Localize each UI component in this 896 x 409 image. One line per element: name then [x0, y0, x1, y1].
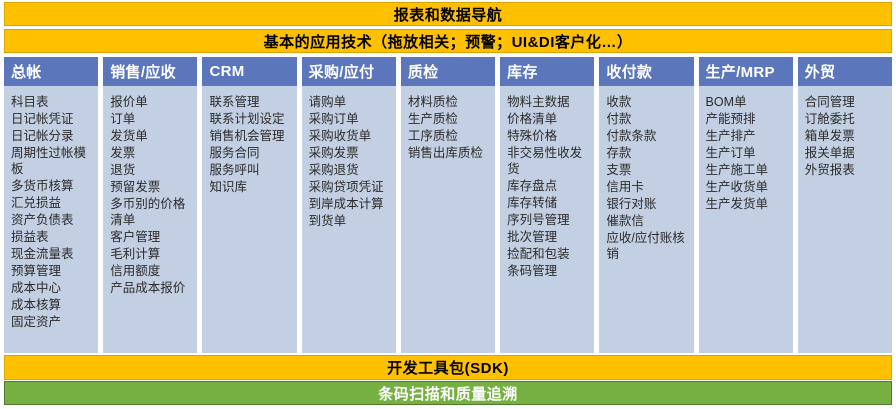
module-item[interactable]: 生产收货单 — [706, 179, 789, 195]
module-item[interactable]: 物料主数据 — [507, 94, 590, 110]
module-item[interactable]: 采购收货单 — [309, 128, 392, 144]
banner-reports-navigation: 报表和数据导航 — [4, 2, 892, 26]
module-column: 销售/应收报价单订单发货单发票退货预留发票多币别的价格清单客户管理毛利计算信用额… — [103, 57, 197, 353]
module-item[interactable]: 联系管理 — [209, 94, 292, 110]
module-item[interactable]: 预留发票 — [110, 179, 193, 195]
module-item[interactable]: 外贸报表 — [805, 162, 888, 178]
module-column: 外贸合同管理订舱委托箱单发票报关单据外贸报表 — [798, 57, 892, 353]
module-item[interactable]: 联系计划设定 — [209, 111, 292, 127]
module-column-header[interactable]: 销售/应收 — [103, 57, 197, 86]
module-item[interactable]: 科目表 — [11, 94, 94, 110]
module-column: 生产/MRPBOM单产能预排生产排产生产订单生产施工单生产收货单生产发货单 — [699, 57, 793, 353]
module-item[interactable]: 信用额度 — [110, 263, 193, 279]
module-item[interactable]: 周期性过帐模板 — [11, 145, 94, 177]
module-item[interactable]: 生产质检 — [408, 111, 491, 127]
module-item[interactable]: 库存转储 — [507, 195, 590, 211]
module-item[interactable]: 到岸成本计算 — [309, 196, 392, 212]
module-column: 总帐科目表日记帐凭证日记帐分录周期性过帐模板多货币核算汇兑损益资产负债表损益表现… — [4, 57, 98, 353]
module-item[interactable]: 报价单 — [110, 94, 193, 110]
module-item[interactable]: 捡配和包装 — [507, 246, 590, 262]
banner-basic-application-technology: 基本的应用技术（拖放相关；预警；UI&DI客户化…） — [4, 29, 892, 53]
module-item[interactable]: 付款 — [606, 111, 689, 127]
module-item[interactable]: 报关单据 — [805, 145, 888, 161]
module-item[interactable]: 生产订单 — [706, 145, 789, 161]
module-item[interactable]: 合同管理 — [805, 94, 888, 110]
module-column-header[interactable]: CRM — [202, 57, 296, 86]
module-item[interactable]: 信用卡 — [606, 179, 689, 195]
module-item[interactable]: 材料质检 — [408, 94, 491, 110]
module-columns: 总帐科目表日记帐凭证日记帐分录周期性过帐模板多货币核算汇兑损益资产负债表损益表现… — [4, 57, 892, 353]
module-item[interactable]: 资产负债表 — [11, 212, 94, 228]
module-item[interactable]: 销售机会管理 — [209, 128, 292, 144]
module-column-header[interactable]: 质检 — [401, 57, 495, 86]
banner-barcode-quality-trace: 条码扫描和质量追溯 — [4, 381, 892, 405]
module-item[interactable]: 特殊价格 — [507, 128, 590, 144]
module-item[interactable]: 发货单 — [110, 128, 193, 144]
module-column-header[interactable]: 库存 — [500, 57, 594, 86]
module-item[interactable]: 工序质检 — [408, 128, 491, 144]
module-item[interactable]: 催款信 — [606, 213, 689, 229]
module-item[interactable]: 请购单 — [309, 94, 392, 110]
module-column: 收付款收款付款付款条款存款支票信用卡银行对账催款信应收/应付账核销 — [599, 57, 693, 353]
module-item[interactable]: 订单 — [110, 111, 193, 127]
module-item-list: 物料主数据价格清单特殊价格非交易性收发货库存盘点库存转储序列号管理批次管理捡配和… — [500, 86, 594, 353]
module-item[interactable]: 销售出库质检 — [408, 145, 491, 161]
erp-module-map: 报表和数据导航 基本的应用技术（拖放相关；预警；UI&DI客户化…） 总帐科目表… — [0, 0, 896, 409]
module-column-header[interactable]: 采购/应付 — [302, 57, 396, 86]
module-item[interactable]: 库存盘点 — [507, 178, 590, 194]
module-item[interactable]: 现金流量表 — [11, 246, 94, 262]
module-column-header[interactable]: 收付款 — [599, 57, 693, 86]
module-item[interactable]: 批次管理 — [507, 229, 590, 245]
module-item-list: 合同管理订舱委托箱单发票报关单据外贸报表 — [798, 86, 892, 353]
module-item-list: 请购单采购订单采购收货单采购发票采购退货采购贷项凭证到岸成本计算到货单 — [302, 86, 396, 353]
module-column: CRM联系管理联系计划设定销售机会管理服务合同服务呼叫知识库 — [202, 57, 296, 353]
module-item[interactable]: 订舱委托 — [805, 111, 888, 127]
module-item[interactable]: 非交易性收发货 — [507, 145, 590, 177]
module-item-list: 报价单订单发货单发票退货预留发票多币别的价格清单客户管理毛利计算信用额度产品成本… — [103, 86, 197, 353]
module-item[interactable]: 收款 — [606, 94, 689, 110]
module-item[interactable]: 固定资产 — [11, 314, 94, 330]
module-item[interactable]: 成本中心 — [11, 280, 94, 296]
module-column-header[interactable]: 总帐 — [4, 57, 98, 86]
module-item[interactable]: 采购发票 — [309, 145, 392, 161]
module-item[interactable]: 汇兑损益 — [11, 195, 94, 211]
module-item[interactable]: 成本核算 — [11, 297, 94, 313]
module-item[interactable]: 服务合同 — [209, 145, 292, 161]
module-item[interactable]: 付款条款 — [606, 128, 689, 144]
module-item[interactable]: 产能预排 — [706, 111, 789, 127]
module-item[interactable]: 日记帐凭证 — [11, 111, 94, 127]
module-column: 质检材料质检生产质检工序质检销售出库质检 — [401, 57, 495, 353]
module-item[interactable]: 生产排产 — [706, 128, 789, 144]
module-item[interactable]: 发票 — [110, 145, 193, 161]
module-item[interactable]: 价格清单 — [507, 111, 590, 127]
module-item[interactable]: 退货 — [110, 162, 193, 178]
module-item-list: BOM单产能预排生产排产生产订单生产施工单生产收货单生产发货单 — [699, 86, 793, 353]
module-item[interactable]: 银行对账 — [606, 196, 689, 212]
module-item[interactable]: 客户管理 — [110, 229, 193, 245]
module-item-list: 收款付款付款条款存款支票信用卡银行对账催款信应收/应付账核销 — [599, 86, 693, 353]
banner-sdk: 开发工具包(SDK) — [4, 355, 892, 380]
module-item[interactable]: 条码管理 — [507, 263, 590, 279]
module-item[interactable]: 存款 — [606, 145, 689, 161]
module-item[interactable]: BOM单 — [706, 94, 789, 110]
module-item[interactable]: 预算管理 — [11, 263, 94, 279]
module-item[interactable]: 服务呼叫 — [209, 162, 292, 178]
module-item[interactable]: 毛利计算 — [110, 246, 193, 262]
module-item[interactable]: 箱单发票 — [805, 128, 888, 144]
module-item[interactable]: 生产施工单 — [706, 162, 789, 178]
module-item[interactable]: 到货单 — [309, 213, 392, 229]
module-item[interactable]: 知识库 — [209, 179, 292, 195]
module-item[interactable]: 产品成本报价 — [110, 280, 193, 296]
module-item-list: 科目表日记帐凭证日记帐分录周期性过帐模板多货币核算汇兑损益资产负债表损益表现金流… — [4, 86, 98, 353]
module-column: 库存物料主数据价格清单特殊价格非交易性收发货库存盘点库存转储序列号管理批次管理捡… — [500, 57, 594, 353]
module-item[interactable]: 日记帐分录 — [11, 128, 94, 144]
module-item[interactable]: 采购订单 — [309, 111, 392, 127]
module-item-list: 材料质检生产质检工序质检销售出库质检 — [401, 86, 495, 353]
module-column-header[interactable]: 外贸 — [798, 57, 892, 86]
module-item[interactable]: 采购贷项凭证 — [309, 179, 392, 195]
module-column: 采购/应付请购单采购订单采购收货单采购发票采购退货采购贷项凭证到岸成本计算到货单 — [302, 57, 396, 353]
module-item[interactable]: 序列号管理 — [507, 212, 590, 228]
module-item[interactable]: 生产发货单 — [706, 196, 789, 212]
module-item[interactable]: 损益表 — [11, 229, 94, 245]
module-item[interactable]: 多货币核算 — [11, 178, 94, 194]
module-item[interactable]: 应收/应付账核销 — [606, 230, 689, 262]
module-item-list: 联系管理联系计划设定销售机会管理服务合同服务呼叫知识库 — [202, 86, 296, 353]
module-item[interactable]: 采购退货 — [309, 162, 392, 178]
module-column-header[interactable]: 生产/MRP — [699, 57, 793, 86]
module-item[interactable]: 支票 — [606, 162, 689, 178]
module-item[interactable]: 多币别的价格清单 — [110, 196, 193, 228]
